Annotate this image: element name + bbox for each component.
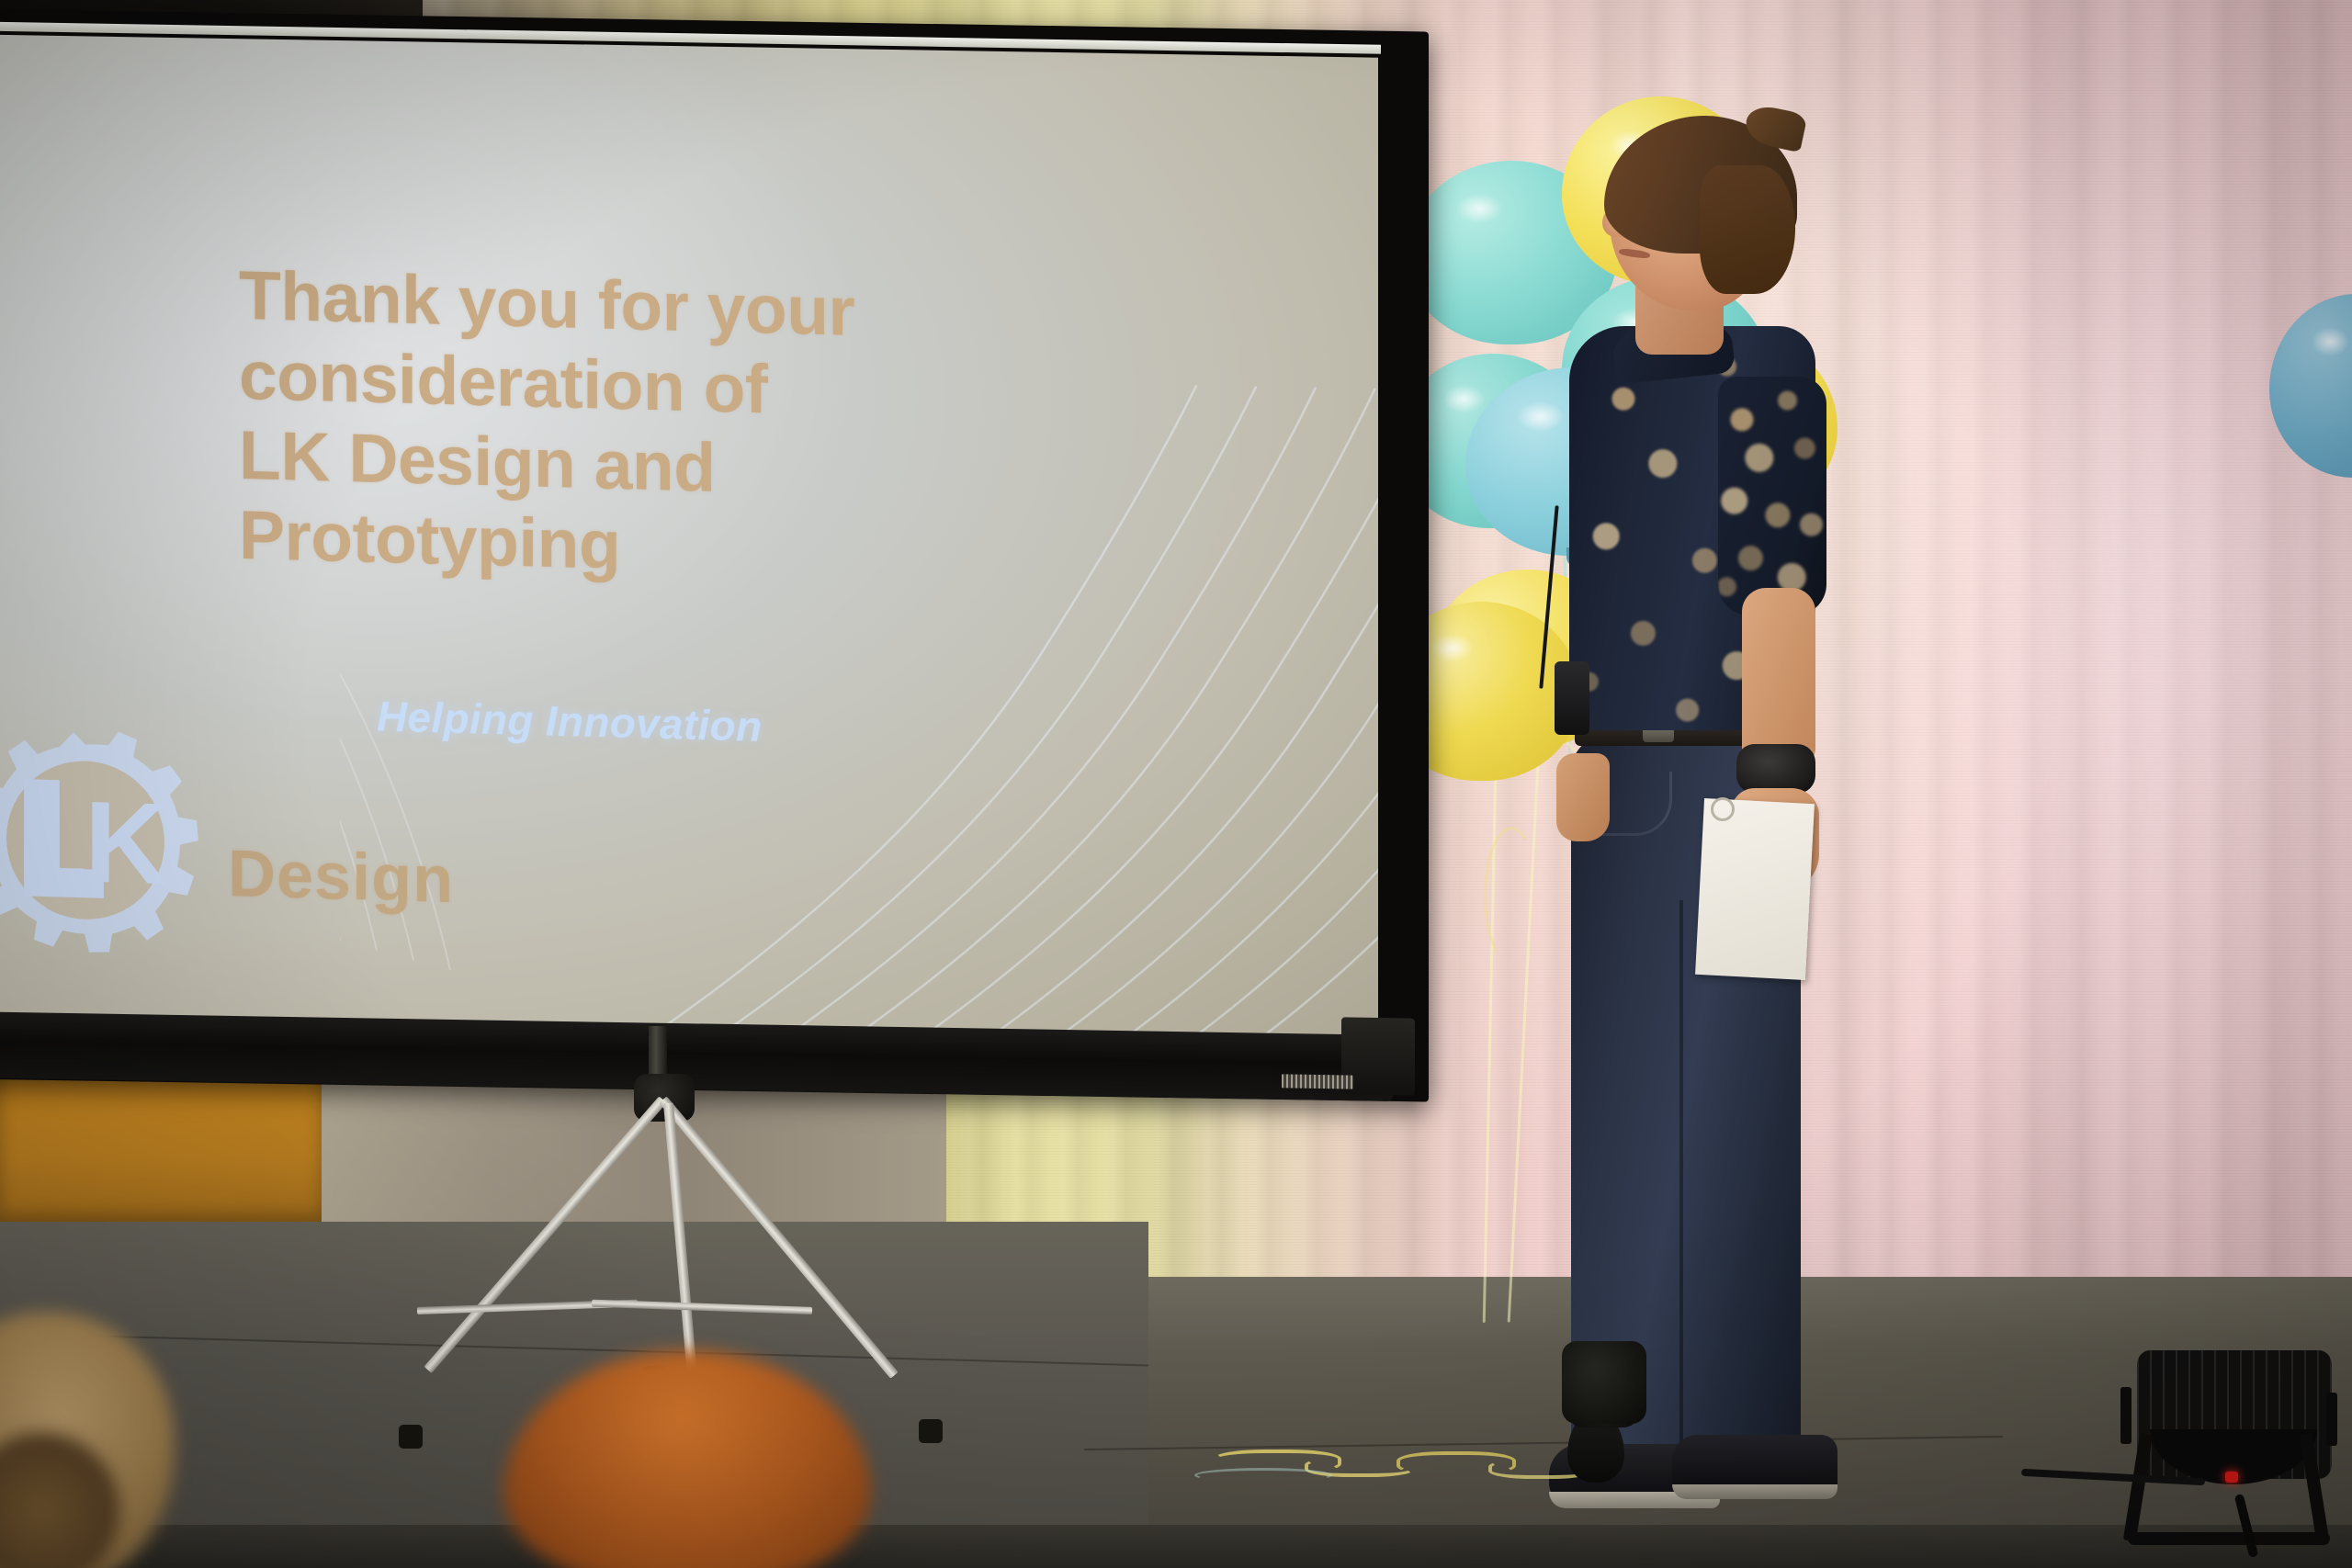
lk-design-logo: LK Design	[0, 710, 505, 1002]
ribbon-curl-teal	[1194, 1468, 1332, 1483]
tripod-leg-left	[424, 1096, 666, 1373]
par-stand-base	[2128, 1532, 2330, 1545]
presenter-left-hand	[1556, 753, 1610, 841]
tripod-brace-right	[592, 1300, 812, 1314]
presenter-watch	[1736, 744, 1815, 794]
floor-equipment-box	[1562, 1341, 1646, 1424]
tripod-leg-right	[659, 1096, 898, 1378]
logo-wordmark: Design	[228, 836, 454, 918]
presenter-jeans-seam	[1679, 900, 1683, 1451]
photo-scene: Thank you for your consideration of LK D…	[0, 0, 2352, 1568]
stage-front-edge	[0, 1525, 2352, 1568]
slide-title: Thank you for your consideration of LK D…	[239, 255, 1001, 595]
tripod-leg-center	[663, 1103, 697, 1379]
slide-surface: Thank you for your consideration of LK D…	[0, 34, 1378, 1050]
presenter-hair-side	[1700, 165, 1795, 294]
par-yoke-right	[2326, 1393, 2337, 1446]
mic-transmitter	[1555, 661, 1589, 735]
svg-text:LK: LK	[17, 775, 167, 909]
par-yoke-left	[2120, 1387, 2131, 1444]
presenter-shoe-back-sole	[1672, 1484, 1837, 1499]
presenter-sleeve	[1718, 377, 1826, 615]
presenter-note-cards	[1695, 798, 1815, 980]
projection-screen: Thank you for your consideration of LK D…	[0, 20, 1433, 1141]
tripod-foot-right	[919, 1419, 943, 1443]
sleeve-floral-pattern	[1718, 377, 1826, 615]
tripod-foot-left	[399, 1425, 423, 1449]
par-light-indicator	[2225, 1472, 2238, 1483]
curled-ribbon-lower	[1484, 827, 1539, 964]
